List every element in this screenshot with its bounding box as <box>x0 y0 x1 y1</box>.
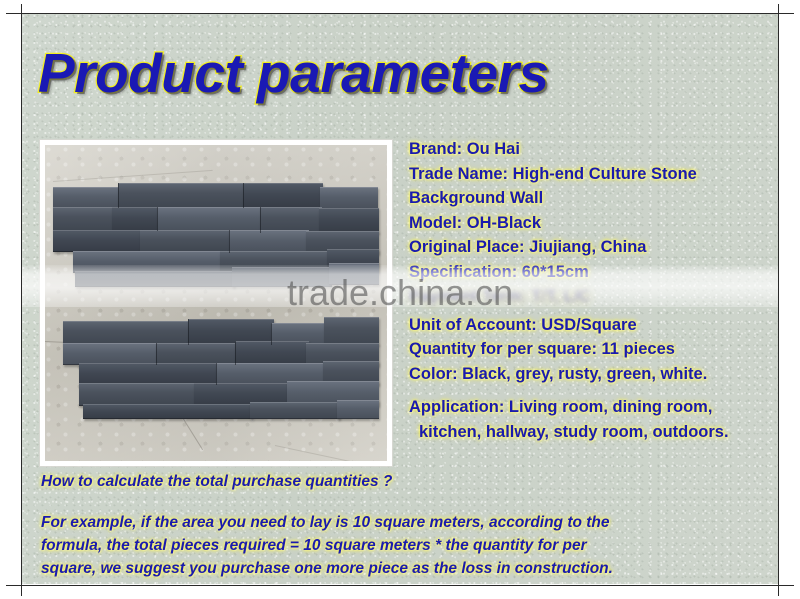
crop-mark-bottom <box>6 585 794 586</box>
title-row: Product parameters <box>38 40 738 110</box>
crop-mark-left <box>21 4 22 596</box>
crop-mark-right <box>778 4 779 596</box>
note-spacer <box>41 493 767 511</box>
crack-line <box>275 445 373 461</box>
poster-canvas: Product parameters <box>22 14 778 584</box>
spec-line-trade-name: Trade Name: High-end Culture Stone <box>409 162 778 187</box>
spec-line-origin: Original Place: Jiujiang, China <box>409 235 778 260</box>
page-title: Product parameters <box>38 40 738 106</box>
spec-line-application: Application: Living room, dining room, <box>409 395 778 420</box>
spec-line-trade-name-2: Background Wall <box>409 186 778 211</box>
spec-line-brand: Brand: Ou Hai <box>409 137 778 162</box>
spec-line-color: Color: Black, grey, rusty, green, white. <box>409 362 778 387</box>
crack-line <box>53 170 213 182</box>
product-photo-frame <box>40 140 392 466</box>
poster-page: Product parameters <box>0 0 800 599</box>
note-question: How to calculate the total purchase quan… <box>41 470 767 493</box>
spec-line-unit-of-account: Unit of Account: USD/Square <box>409 313 778 338</box>
note-example-line-2: formula, the total pieces required = 10 … <box>41 534 767 557</box>
spec-line-model: Model: OH-Black <box>409 211 778 236</box>
spec-line-specification: Specification: 60*15cm <box>409 260 778 285</box>
crop-mark-top <box>6 13 794 14</box>
note-example-line-3: square, we suggest you purchase one more… <box>41 557 767 580</box>
note-example-line-1: For example, if the area you need to lay… <box>41 511 767 534</box>
purchase-note-block: How to calculate the total purchase quan… <box>41 470 767 580</box>
spec-spacer <box>409 386 778 395</box>
spec-line-application-2: kitchen, hallway, study room, outdoors. <box>409 420 778 445</box>
spec-line-quantity: Quantity for per square: 11 pieces <box>409 337 778 362</box>
spec-line-obscured: Payment Term: T/T, L/C <box>409 284 778 309</box>
specification-block: Brand: Ou Hai Trade Name: High-end Cultu… <box>409 137 778 444</box>
product-photo <box>45 145 387 461</box>
